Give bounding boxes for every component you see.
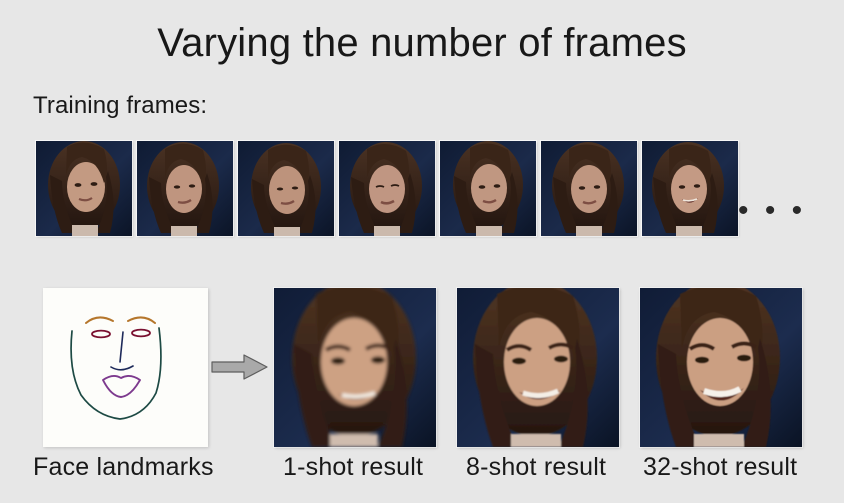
face-photo-icon <box>238 141 334 236</box>
result-image-panel <box>640 288 802 447</box>
slide-canvas: Varying the number of frames Training fr… <box>0 0 844 503</box>
result-image-panel <box>274 288 436 447</box>
page-title: Varying the number of frames <box>0 21 844 65</box>
frames-ellipsis: • • • <box>738 196 806 226</box>
flow-arrow-icon <box>210 352 270 382</box>
face-photo-icon <box>440 141 536 236</box>
caption-8-shot-result: 8-shot result <box>466 453 606 482</box>
training-frame-thumbnail <box>440 141 536 236</box>
face-photo-icon <box>642 141 738 236</box>
result-image-panel <box>457 288 619 447</box>
training-frame-thumbnail <box>541 141 637 236</box>
caption-32-shot-result: 32-shot result <box>643 453 797 482</box>
generated-face-icon <box>640 288 802 447</box>
training-frame-thumbnail <box>339 141 435 236</box>
face-photo-icon <box>137 141 233 236</box>
training-frames-label: Training frames: <box>33 92 207 120</box>
face-photo-icon <box>541 141 637 236</box>
training-frame-thumbnail <box>36 141 132 236</box>
caption-1-shot-result: 1-shot result <box>283 453 423 482</box>
face-landmarks-panel <box>43 288 208 447</box>
face-landmarks-icon <box>43 288 208 447</box>
training-frame-thumbnail <box>137 141 233 236</box>
caption-face-landmarks: Face landmarks <box>33 453 214 482</box>
face-photo-icon <box>36 141 132 236</box>
training-frame-thumbnail <box>238 141 334 236</box>
generated-face-icon <box>457 288 619 447</box>
generated-face-icon <box>274 288 436 447</box>
training-frame-thumbnail <box>642 141 738 236</box>
face-photo-icon <box>339 141 435 236</box>
training-frames-strip <box>36 141 736 237</box>
